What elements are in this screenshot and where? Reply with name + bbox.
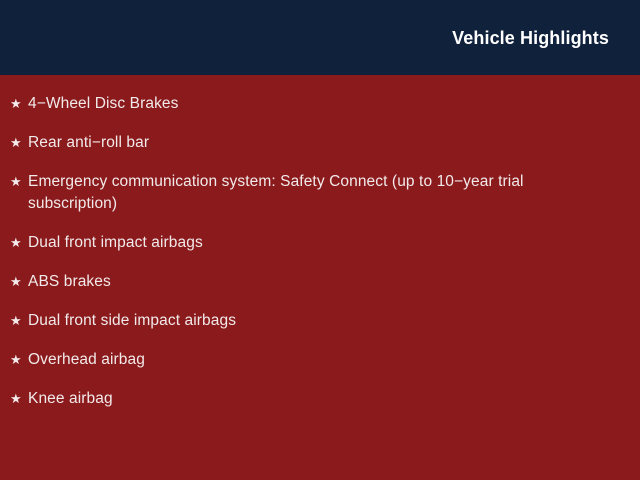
page-title: Vehicle Highlights	[452, 27, 609, 49]
highlights-panel: ★ 4−Wheel Disc Brakes ★ Rear anti−roll b…	[0, 75, 640, 480]
list-item: ★ Overhead airbag	[10, 349, 612, 371]
list-item: ★ Knee airbag	[10, 388, 612, 410]
star-bullet-icon: ★	[10, 132, 28, 154]
star-bullet-icon: ★	[10, 388, 28, 410]
list-item: ★ Emergency communication system: Safety…	[10, 171, 612, 215]
list-item: ★ 4−Wheel Disc Brakes	[10, 93, 612, 115]
list-item-label: ABS brakes	[28, 271, 612, 293]
star-bullet-icon: ★	[10, 310, 28, 332]
star-bullet-icon: ★	[10, 349, 28, 371]
list-item-label: Dual front side impact airbags	[28, 310, 612, 332]
star-bullet-icon: ★	[10, 171, 28, 193]
star-bullet-icon: ★	[10, 232, 28, 254]
list-item-label: Rear anti−roll bar	[28, 132, 612, 154]
list-item-label: Dual front impact airbags	[28, 232, 612, 254]
list-item-label: Knee airbag	[28, 388, 612, 410]
page-header: Vehicle Highlights	[0, 0, 640, 75]
list-item: ★ Rear anti−roll bar	[10, 132, 612, 154]
list-item-label: Overhead airbag	[28, 349, 612, 371]
list-item: ★ Dual front side impact airbags	[10, 310, 612, 332]
star-bullet-icon: ★	[10, 93, 28, 115]
highlights-list: ★ 4−Wheel Disc Brakes ★ Rear anti−roll b…	[0, 75, 640, 410]
vehicle-highlights-page: Vehicle Highlights ★ 4−Wheel Disc Brakes…	[0, 0, 640, 480]
list-item-label: 4−Wheel Disc Brakes	[28, 93, 612, 115]
list-item-label: Emergency communication system: Safety C…	[28, 171, 612, 215]
list-item: ★ ABS brakes	[10, 271, 612, 293]
list-item: ★ Dual front impact airbags	[10, 232, 612, 254]
star-bullet-icon: ★	[10, 271, 28, 293]
